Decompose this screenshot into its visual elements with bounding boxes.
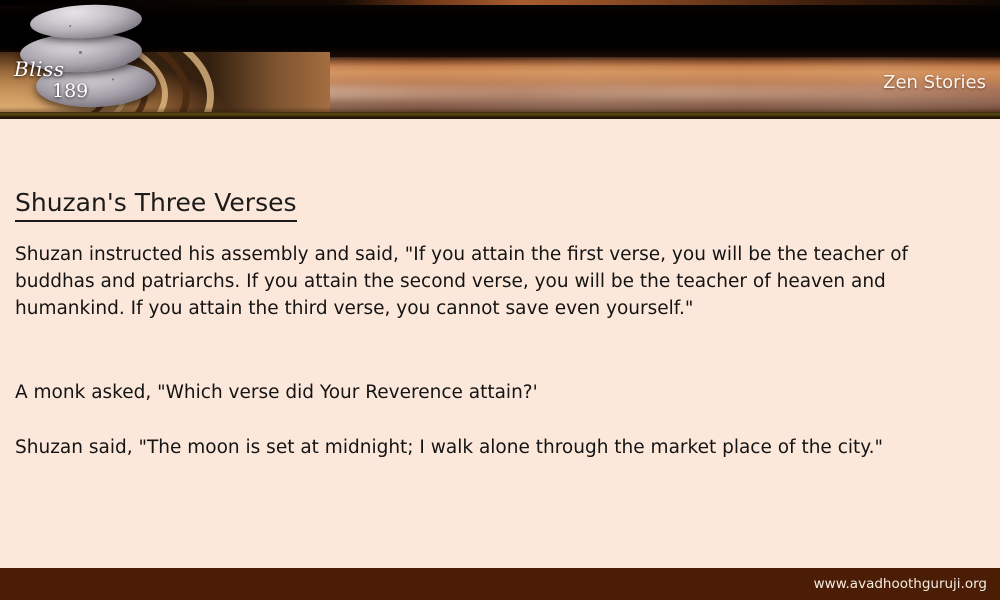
section-label: Zen Stories [883,72,986,93]
story-paragraph-3: Shuzan said, "The moon is set at midnigh… [15,434,983,461]
stone-speck [111,78,113,80]
slide-header: Bliss 189 Zen Stories [0,0,1000,119]
stone-speck [78,51,81,54]
header-dark-field [0,5,1000,58]
brand-number: 189 [52,80,88,102]
stone-speck [69,25,71,27]
story-paragraph-2: A monk asked, "Which verse did Your Reve… [15,379,983,406]
page-title: Shuzan's Three Verses [15,188,297,222]
slide-footer: www.avadhoothguruji.org [0,568,1000,600]
header-bottom-edge [0,112,1000,119]
story-content: Shuzan's Three Verses Shuzan instructed … [0,119,1000,568]
zen-story-slide: Bliss 189 Zen Stories Shuzan's Three Ver… [0,0,1000,600]
story-paragraph-1: Shuzan instructed his assembly and said,… [15,241,983,322]
brand-name: Bliss [14,57,65,81]
footer-website-url[interactable]: www.avadhoothguruji.org [814,576,987,592]
